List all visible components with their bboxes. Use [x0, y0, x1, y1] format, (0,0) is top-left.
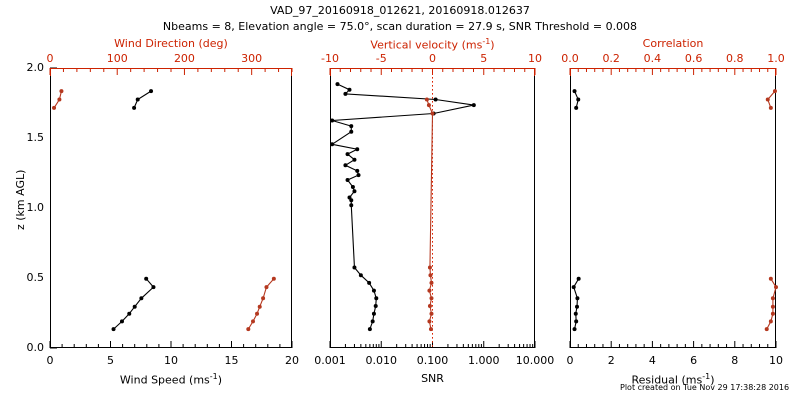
- panel-residual-data-point: [765, 327, 769, 331]
- panel-residual-data-point: [573, 327, 577, 331]
- panel-residual-bottom-tick-label: 10: [746, 354, 800, 367]
- panel-residual-data-point: [771, 296, 775, 300]
- panel-residual-data-point: [573, 89, 577, 93]
- panel-residual-data-point: [769, 106, 773, 110]
- panel-residual-data-point: [771, 305, 775, 309]
- panel-residual-data-point: [769, 277, 773, 281]
- plot-credit: Plot created on Tue Nov 29 17:38:28 2016: [620, 383, 789, 392]
- panel-residual-data-point: [773, 89, 777, 93]
- panel-residual-data-point: [574, 106, 578, 110]
- panel-residual-data-point: [575, 305, 579, 309]
- panel-residual-data-point: [572, 285, 576, 289]
- panel-residual-top-tick-label: 1.0: [746, 52, 800, 65]
- panel-residual-data-point: [774, 285, 778, 289]
- panel-residual-data-point: [771, 312, 775, 316]
- panel-residual-data-point: [766, 98, 770, 102]
- panel-residual-data-point: [577, 277, 581, 281]
- panel-residual-data-point: [575, 296, 579, 300]
- panel-residual-data-point: [576, 98, 580, 102]
- panel-residual-data-point: [574, 312, 578, 316]
- panel-residual-data-point: [574, 319, 578, 323]
- panel-residual-data-point: [769, 319, 773, 323]
- panel-residual-top-axis-title: Correlation: [570, 37, 776, 50]
